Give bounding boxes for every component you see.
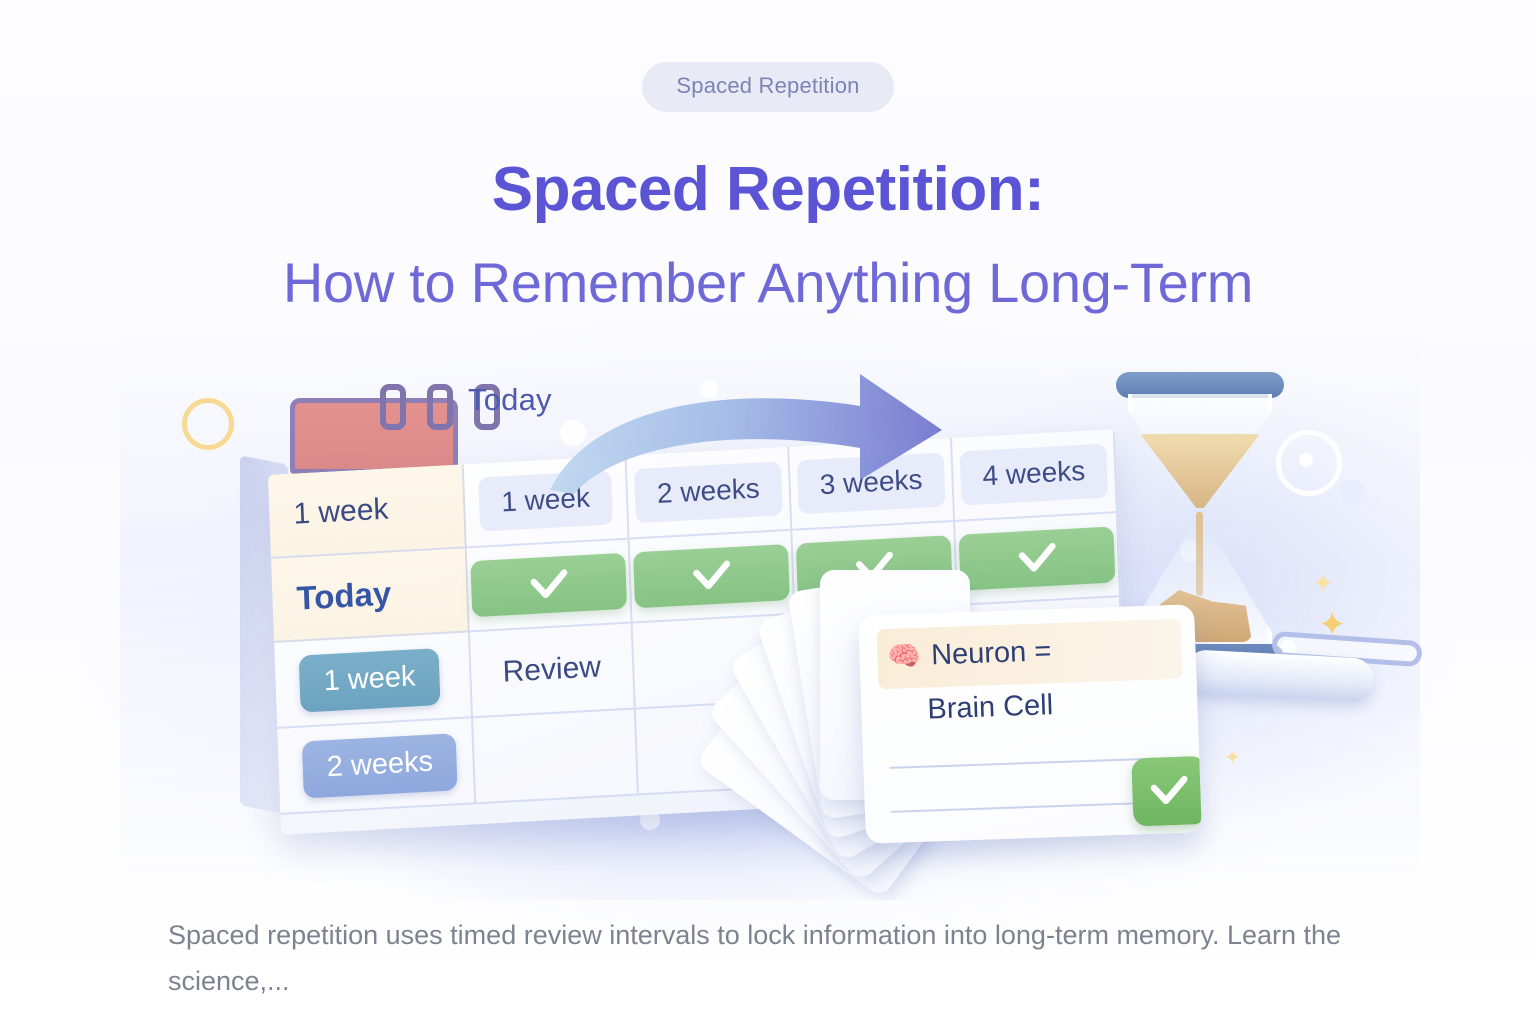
- hourglass-sand-top: [1140, 434, 1260, 508]
- calendar-ring-icon: [380, 384, 406, 430]
- row-label-text: Today: [296, 575, 392, 618]
- flashcard-term-row: 🧠 Neuron =: [887, 635, 1052, 674]
- calendar-row-label: 1 week: [268, 464, 467, 559]
- bokeh-dot: [1340, 480, 1364, 504]
- calendar-row-label-today: Today: [271, 548, 470, 643]
- calendar-ring-icon: [427, 384, 453, 430]
- badge-row: Spaced Repetition: [0, 62, 1536, 112]
- star-icon: ✦: [1312, 570, 1334, 596]
- flashcard-front: 🧠 Neuron = Brain Cell: [858, 604, 1202, 844]
- magnifier-icon: [1228, 630, 1428, 700]
- calendar-rings: [292, 382, 462, 472]
- page-subtitle: How to Remember Anything Long-Term: [0, 252, 1536, 314]
- flashcard-definition: Brain Cell: [927, 689, 1054, 726]
- brain-icon: 🧠: [887, 643, 922, 671]
- category-badge[interactable]: Spaced Repetition: [642, 62, 893, 112]
- description-text: Spaced repetition uses timed review inte…: [168, 912, 1368, 1005]
- row-label-pill: 1 week: [299, 648, 441, 713]
- calendar-check-cell: [467, 540, 633, 633]
- page-title: Spaced Repetition:: [0, 157, 1536, 222]
- calendar-row-label: 1 week: [274, 632, 473, 729]
- page-root: Spaced Repetition Spaced Repetition: How…: [0, 0, 1536, 1024]
- flashcard-term: Neuron =: [931, 635, 1052, 672]
- flashcard-rule: [889, 757, 1173, 769]
- calendar-column-header: 4 weeks: [952, 429, 1118, 522]
- star-icon: ✦: [1224, 748, 1241, 768]
- calendar-empty-cell: [473, 709, 639, 804]
- hero-illustration: ✦ ✦ ✦ ✦ ✦: [0, 340, 1536, 900]
- row-label-pill: 2 weeks: [302, 733, 458, 798]
- checkmark-icon: [1131, 756, 1202, 827]
- row-label-text: 1 week: [293, 493, 389, 532]
- column-header-text: 4 weeks: [960, 444, 1108, 506]
- review-label: Review: [502, 650, 601, 689]
- calendar-row-label: 2 weeks: [277, 718, 476, 815]
- hourglass-sand-stream: [1196, 512, 1203, 596]
- progress-arrow-icon: [530, 368, 950, 498]
- yellow-ring-icon: [182, 398, 234, 450]
- calendar-review-cell: Review: [470, 624, 636, 719]
- checkmark-icon: [470, 553, 627, 617]
